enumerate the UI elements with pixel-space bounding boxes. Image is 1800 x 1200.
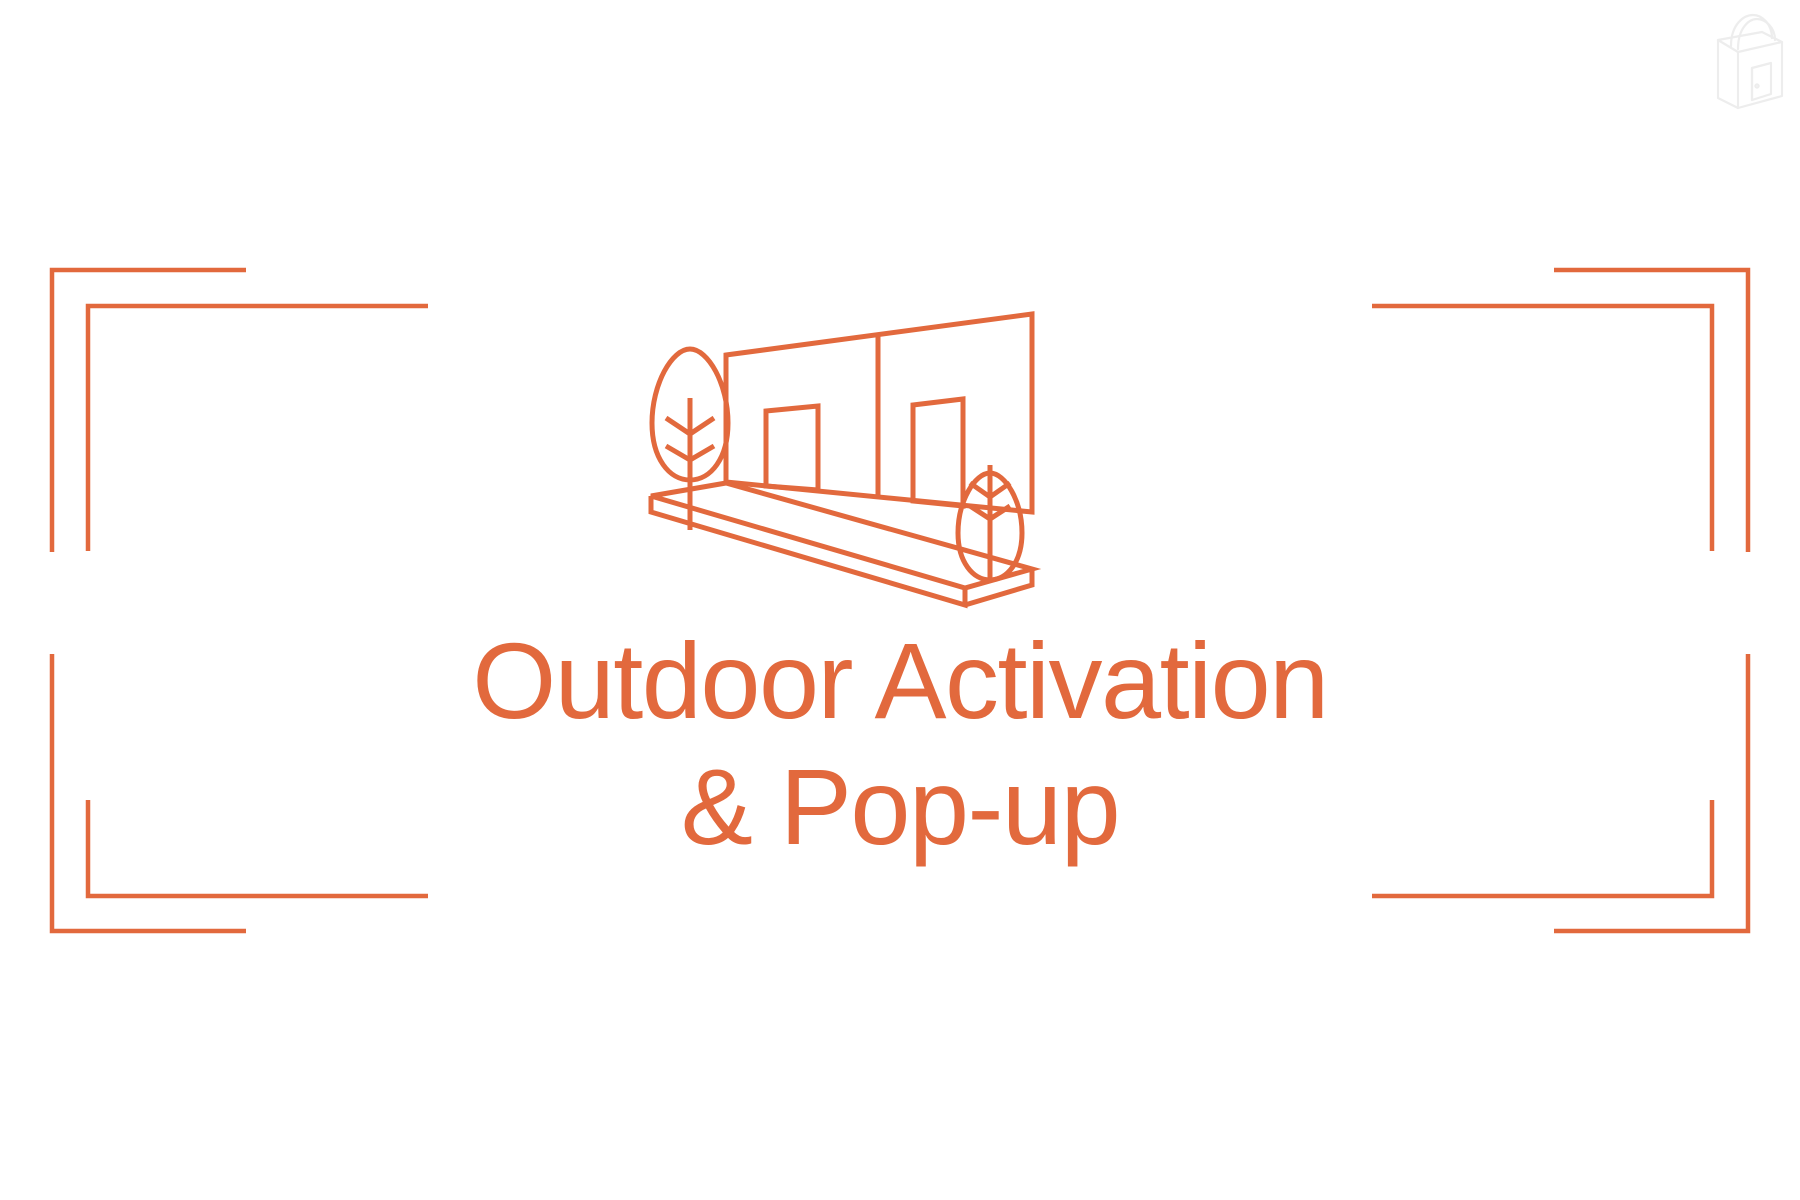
slide-canvas: Outdoor Activation & Pop-up bbox=[0, 0, 1800, 1200]
title-line-1: Outdoor Activation bbox=[0, 618, 1800, 744]
watermark-logo bbox=[1708, 8, 1792, 116]
outdoor-storefront-illustration bbox=[648, 300, 1152, 630]
shopping-bag-with-door-icon bbox=[1708, 8, 1792, 116]
outdoor-storefront-wall-with-trees-icon bbox=[648, 300, 1152, 630]
page-title: Outdoor Activation & Pop-up bbox=[0, 618, 1800, 871]
title-line-2: & Pop-up bbox=[0, 744, 1800, 870]
